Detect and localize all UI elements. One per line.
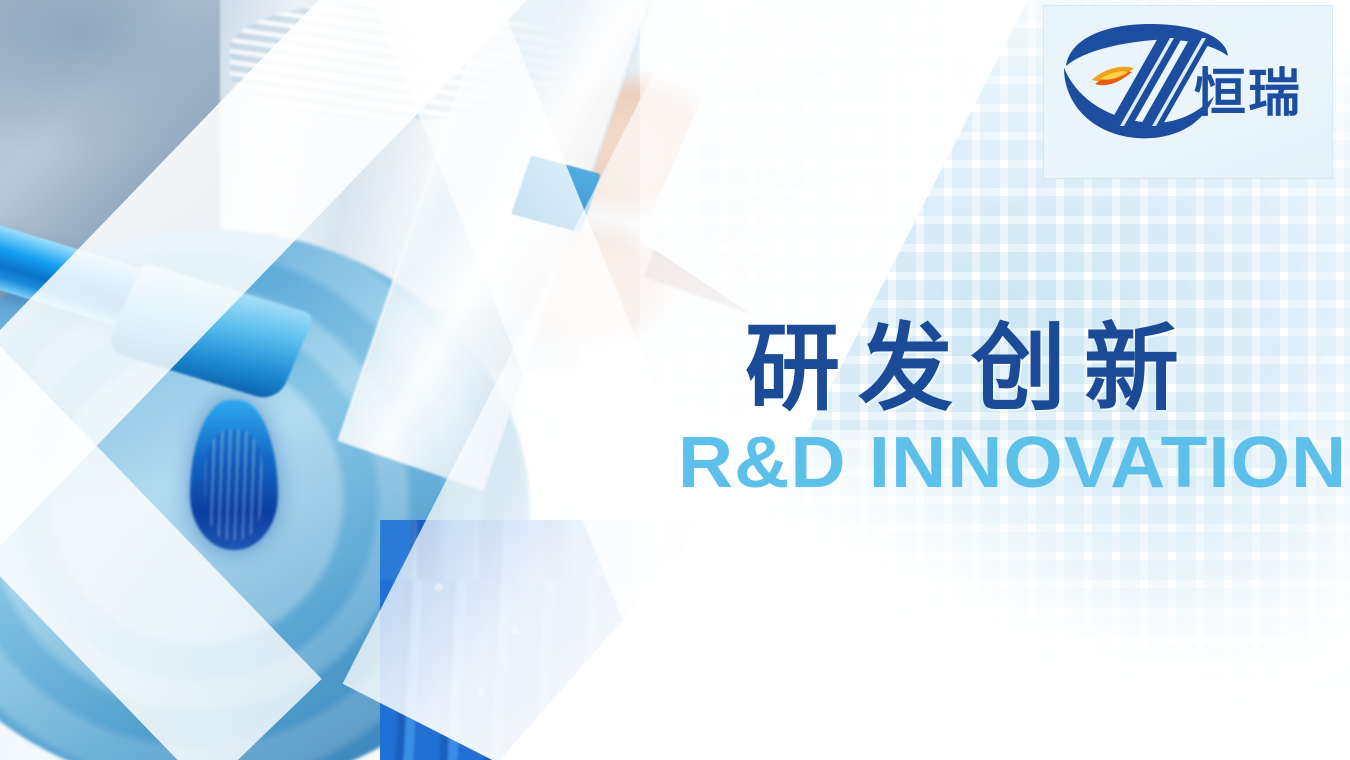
logo-inner: 恒瑞 [1044, 6, 1332, 178]
title-english: R&D INNOVATION [678, 427, 1350, 499]
banner-title-block: 研发创新 R&D INNOVATION [745, 322, 1350, 499]
title-chinese: 研发创新 [745, 322, 1350, 417]
blue-droplet-streaks [205, 430, 263, 540]
company-logo[interactable]: 恒瑞 [1044, 6, 1332, 178]
logo-company-name: 恒瑞 [1194, 68, 1302, 120]
rd-innovation-banner: 研发创新 R&D INNOVATION 恒瑞 [0, 0, 1350, 760]
